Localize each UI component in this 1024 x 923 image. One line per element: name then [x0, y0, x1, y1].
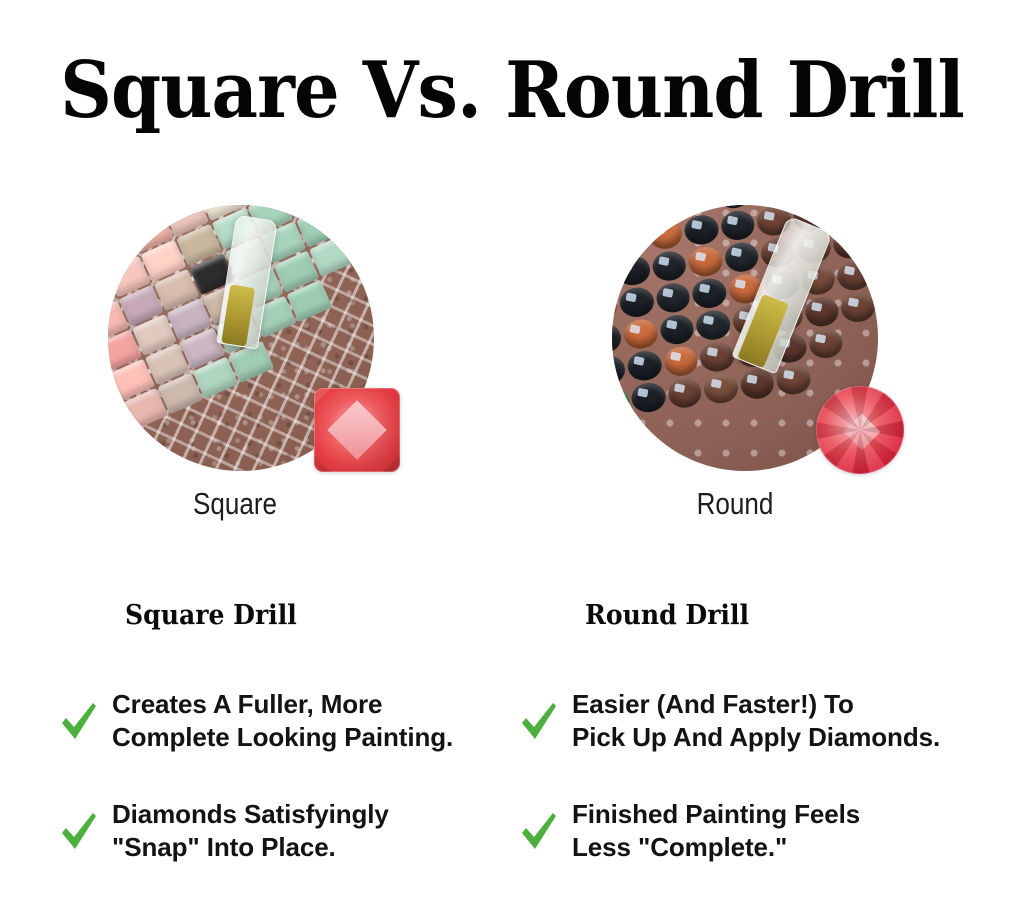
- check-mark-icon: [60, 809, 98, 853]
- list-item: Finished Painting Feels Less "Complete.": [520, 798, 990, 864]
- list-item: Easier (And Faster!) To Pick Up And Appl…: [520, 688, 990, 754]
- list-item: Diamonds Satisfyingly "Snap" Into Place.: [60, 798, 530, 864]
- check-mark-icon: [520, 699, 558, 743]
- round-drill-gem-icon: [816, 386, 904, 474]
- pen-wax: [221, 285, 255, 347]
- check-mark-icon: [520, 809, 558, 853]
- comparison-photos: [0, 200, 1024, 490]
- check-mark-icon: [60, 699, 98, 743]
- round-drill-heading: Round Drill: [585, 600, 962, 632]
- round-drill-column: Round Drill Easier (And Faster!) To Pick…: [520, 600, 990, 864]
- list-item-label: Diamonds Satisfyingly "Snap" Into Place.: [112, 798, 389, 864]
- square-photo-panel: [96, 200, 496, 490]
- list-item: Creates A Fuller, More Complete Looking …: [60, 688, 530, 754]
- round-photo-panel: [600, 200, 1000, 490]
- round-drill-bullet-list: Easier (And Faster!) To Pick Up And Appl…: [520, 688, 990, 864]
- list-item-label: Finished Painting Feels Less "Complete.": [572, 798, 860, 864]
- page-title: Square Vs. Round Drill: [41, 46, 983, 136]
- comparison-columns: Square Drill Creates A Fuller, More Comp…: [0, 600, 1024, 900]
- square-drill-heading: Square Drill: [125, 600, 502, 632]
- list-item-label: Easier (And Faster!) To Pick Up And Appl…: [572, 688, 940, 754]
- round-photo-caption: Round: [584, 485, 886, 523]
- list-item-label: Creates A Fuller, More Complete Looking …: [112, 688, 453, 754]
- square-drill-bullet-list: Creates A Fuller, More Complete Looking …: [60, 688, 530, 864]
- square-photo-caption: Square: [84, 485, 386, 523]
- square-drill-column: Square Drill Creates A Fuller, More Comp…: [60, 600, 530, 864]
- square-drill-gem-icon: [314, 388, 400, 472]
